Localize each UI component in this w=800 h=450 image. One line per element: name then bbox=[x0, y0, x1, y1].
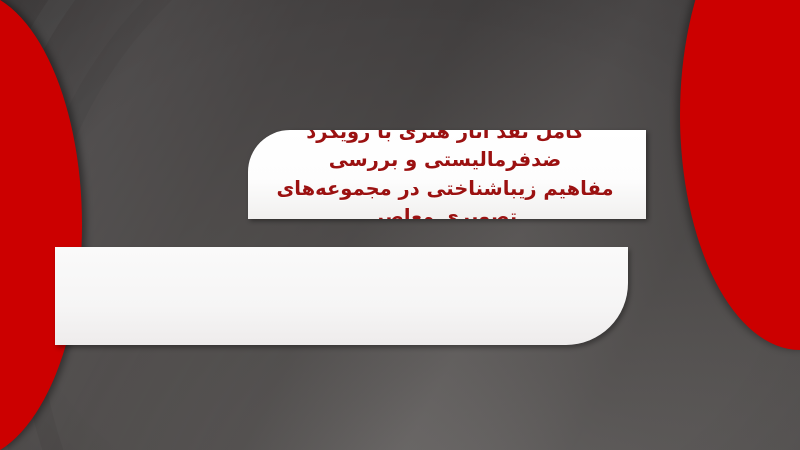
subtitle-placeholder[interactable] bbox=[55, 247, 628, 345]
slide-subtitle bbox=[55, 247, 628, 267]
slide-title: کامل نقد آثار هنری با رویکرد ضدفرمالیستی… bbox=[248, 130, 646, 219]
title-placeholder[interactable]: کامل نقد آثار هنری با رویکرد ضدفرمالیستی… bbox=[248, 130, 646, 219]
slide-background bbox=[0, 0, 800, 450]
presentation-slide: کامل نقد آثار هنری با رویکرد ضدفرمالیستی… bbox=[0, 0, 800, 450]
